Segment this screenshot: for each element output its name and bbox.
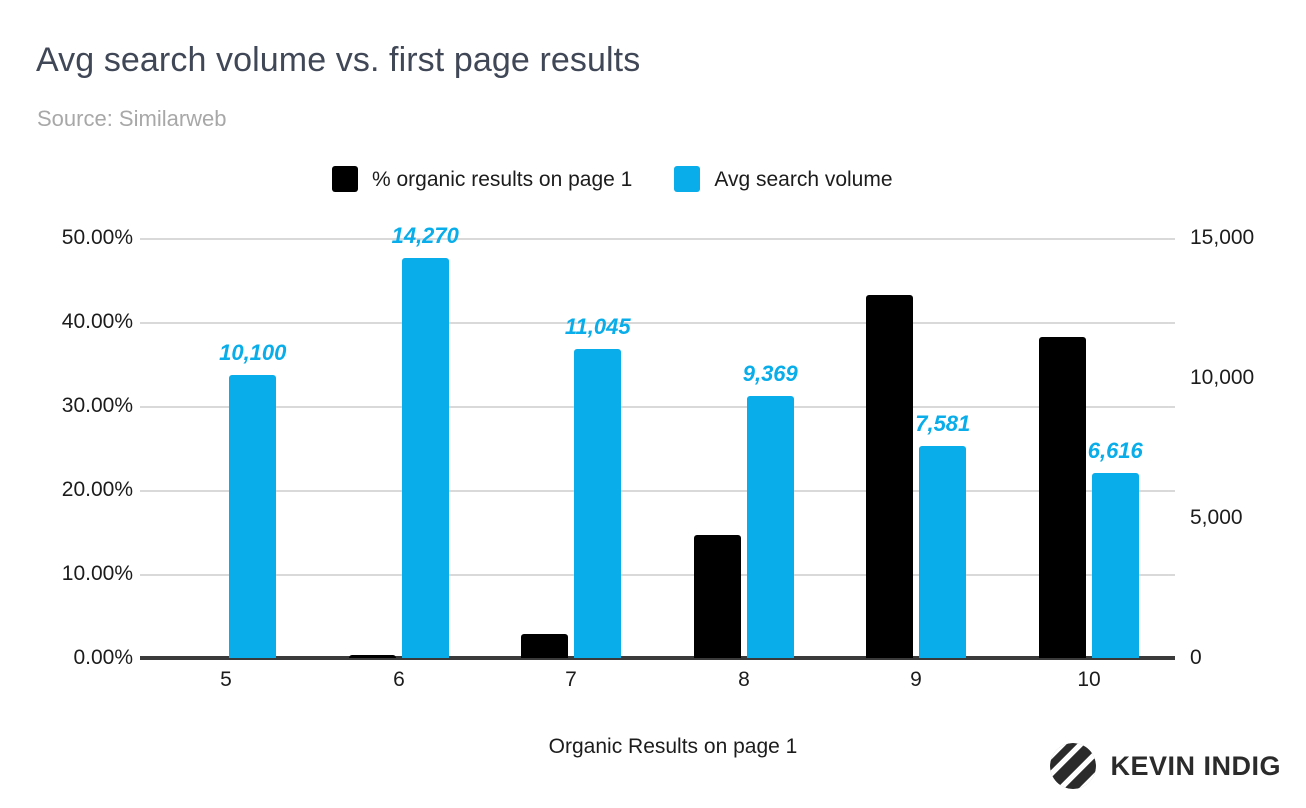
bar-group-8: 9,369 [658,238,831,658]
plot-area: 10,100 14,270 11,045 9,369 [140,238,1175,658]
y-axis-right-tick-10000: 10,000 [1190,366,1254,390]
bar-black-9[interactable] [866,295,913,658]
bar-group-9: 7,581 [830,238,1003,658]
bar-cyan-8[interactable]: 9,369 [747,396,794,658]
bar-value-label-9: 7,581 [915,411,970,437]
x-axis-tick-6: 6 [393,668,405,692]
legend-label-organic-results: % organic results on page 1 [372,169,632,190]
legend-item-organic-results[interactable]: % organic results on page 1 [332,166,632,192]
kevin-indig-mark-icon [1049,742,1097,790]
legend-swatch-icon-black [332,166,358,192]
bar-cyan-5[interactable]: 10,100 [229,375,276,658]
chart-legend: % organic results on page 1 Avg search v… [332,166,893,192]
page-title: Avg search volume vs. first page results [36,41,640,80]
x-axis-title-text: Organic Results on page 1 [509,735,798,758]
chart-canvas: Avg search volume vs. first page results… [0,0,1306,808]
y-axis-left-tick-40: 40.00% [62,310,133,334]
bar-black-8[interactable] [694,535,741,658]
legend-item-avg-search-volume[interactable]: Avg search volume [674,166,892,192]
y-axis-right-tick-5000: 5,000 [1190,506,1243,530]
bar-groups: 10,100 14,270 11,045 9,369 [140,238,1175,658]
legend-swatch-icon-cyan [674,166,700,192]
bar-black-6[interactable] [349,655,396,658]
logo-text: KEVIN INDIG [1110,751,1281,782]
y-axis-right-tick-15000: 15,000 [1190,226,1254,250]
y-axis-right-tick-0: 0 [1190,646,1202,670]
bar-cyan-9[interactable]: 7,581 [919,446,966,658]
bar-value-label-7: 11,045 [565,314,631,340]
brand-logo: KEVIN INDIG [1049,742,1281,790]
bar-value-label-5: 10,100 [219,340,286,366]
x-axis-tick-7: 7 [565,668,577,692]
bar-black-10[interactable] [1039,337,1086,658]
bar-group-5: 10,100 [140,238,313,658]
bar-black-7[interactable] [521,634,568,658]
y-axis-left-tick-10: 10.00% [62,562,133,586]
bar-value-label-10: 6,616 [1088,438,1143,464]
x-axis-tick-8: 8 [738,668,750,692]
chart-source-subtitle: Source: Similarweb [37,106,227,132]
bar-cyan-6[interactable]: 14,270 [402,258,449,658]
y-axis-left-tick-0: 0.00% [73,646,133,670]
y-axis-left-tick-50: 50.00% [62,226,133,250]
bar-group-6: 14,270 [313,238,486,658]
y-axis-left-tick-20: 20.00% [62,478,133,502]
x-axis-tick-5: 5 [220,668,232,692]
bar-cyan-10[interactable]: 6,616 [1092,473,1139,658]
bar-group-10: 6,616 [1003,238,1176,658]
bar-group-7: 11,045 [485,238,658,658]
x-axis-tick-10: 10 [1077,668,1100,692]
y-axis-left-tick-30: 30.00% [62,394,133,418]
bar-cyan-7[interactable]: 11,045 [574,349,621,658]
x-axis-tick-9: 9 [910,668,922,692]
legend-label-avg-search-volume: Avg search volume [714,169,892,190]
bar-value-label-6: 14,270 [392,223,459,249]
bar-value-label-8: 9,369 [743,361,798,387]
